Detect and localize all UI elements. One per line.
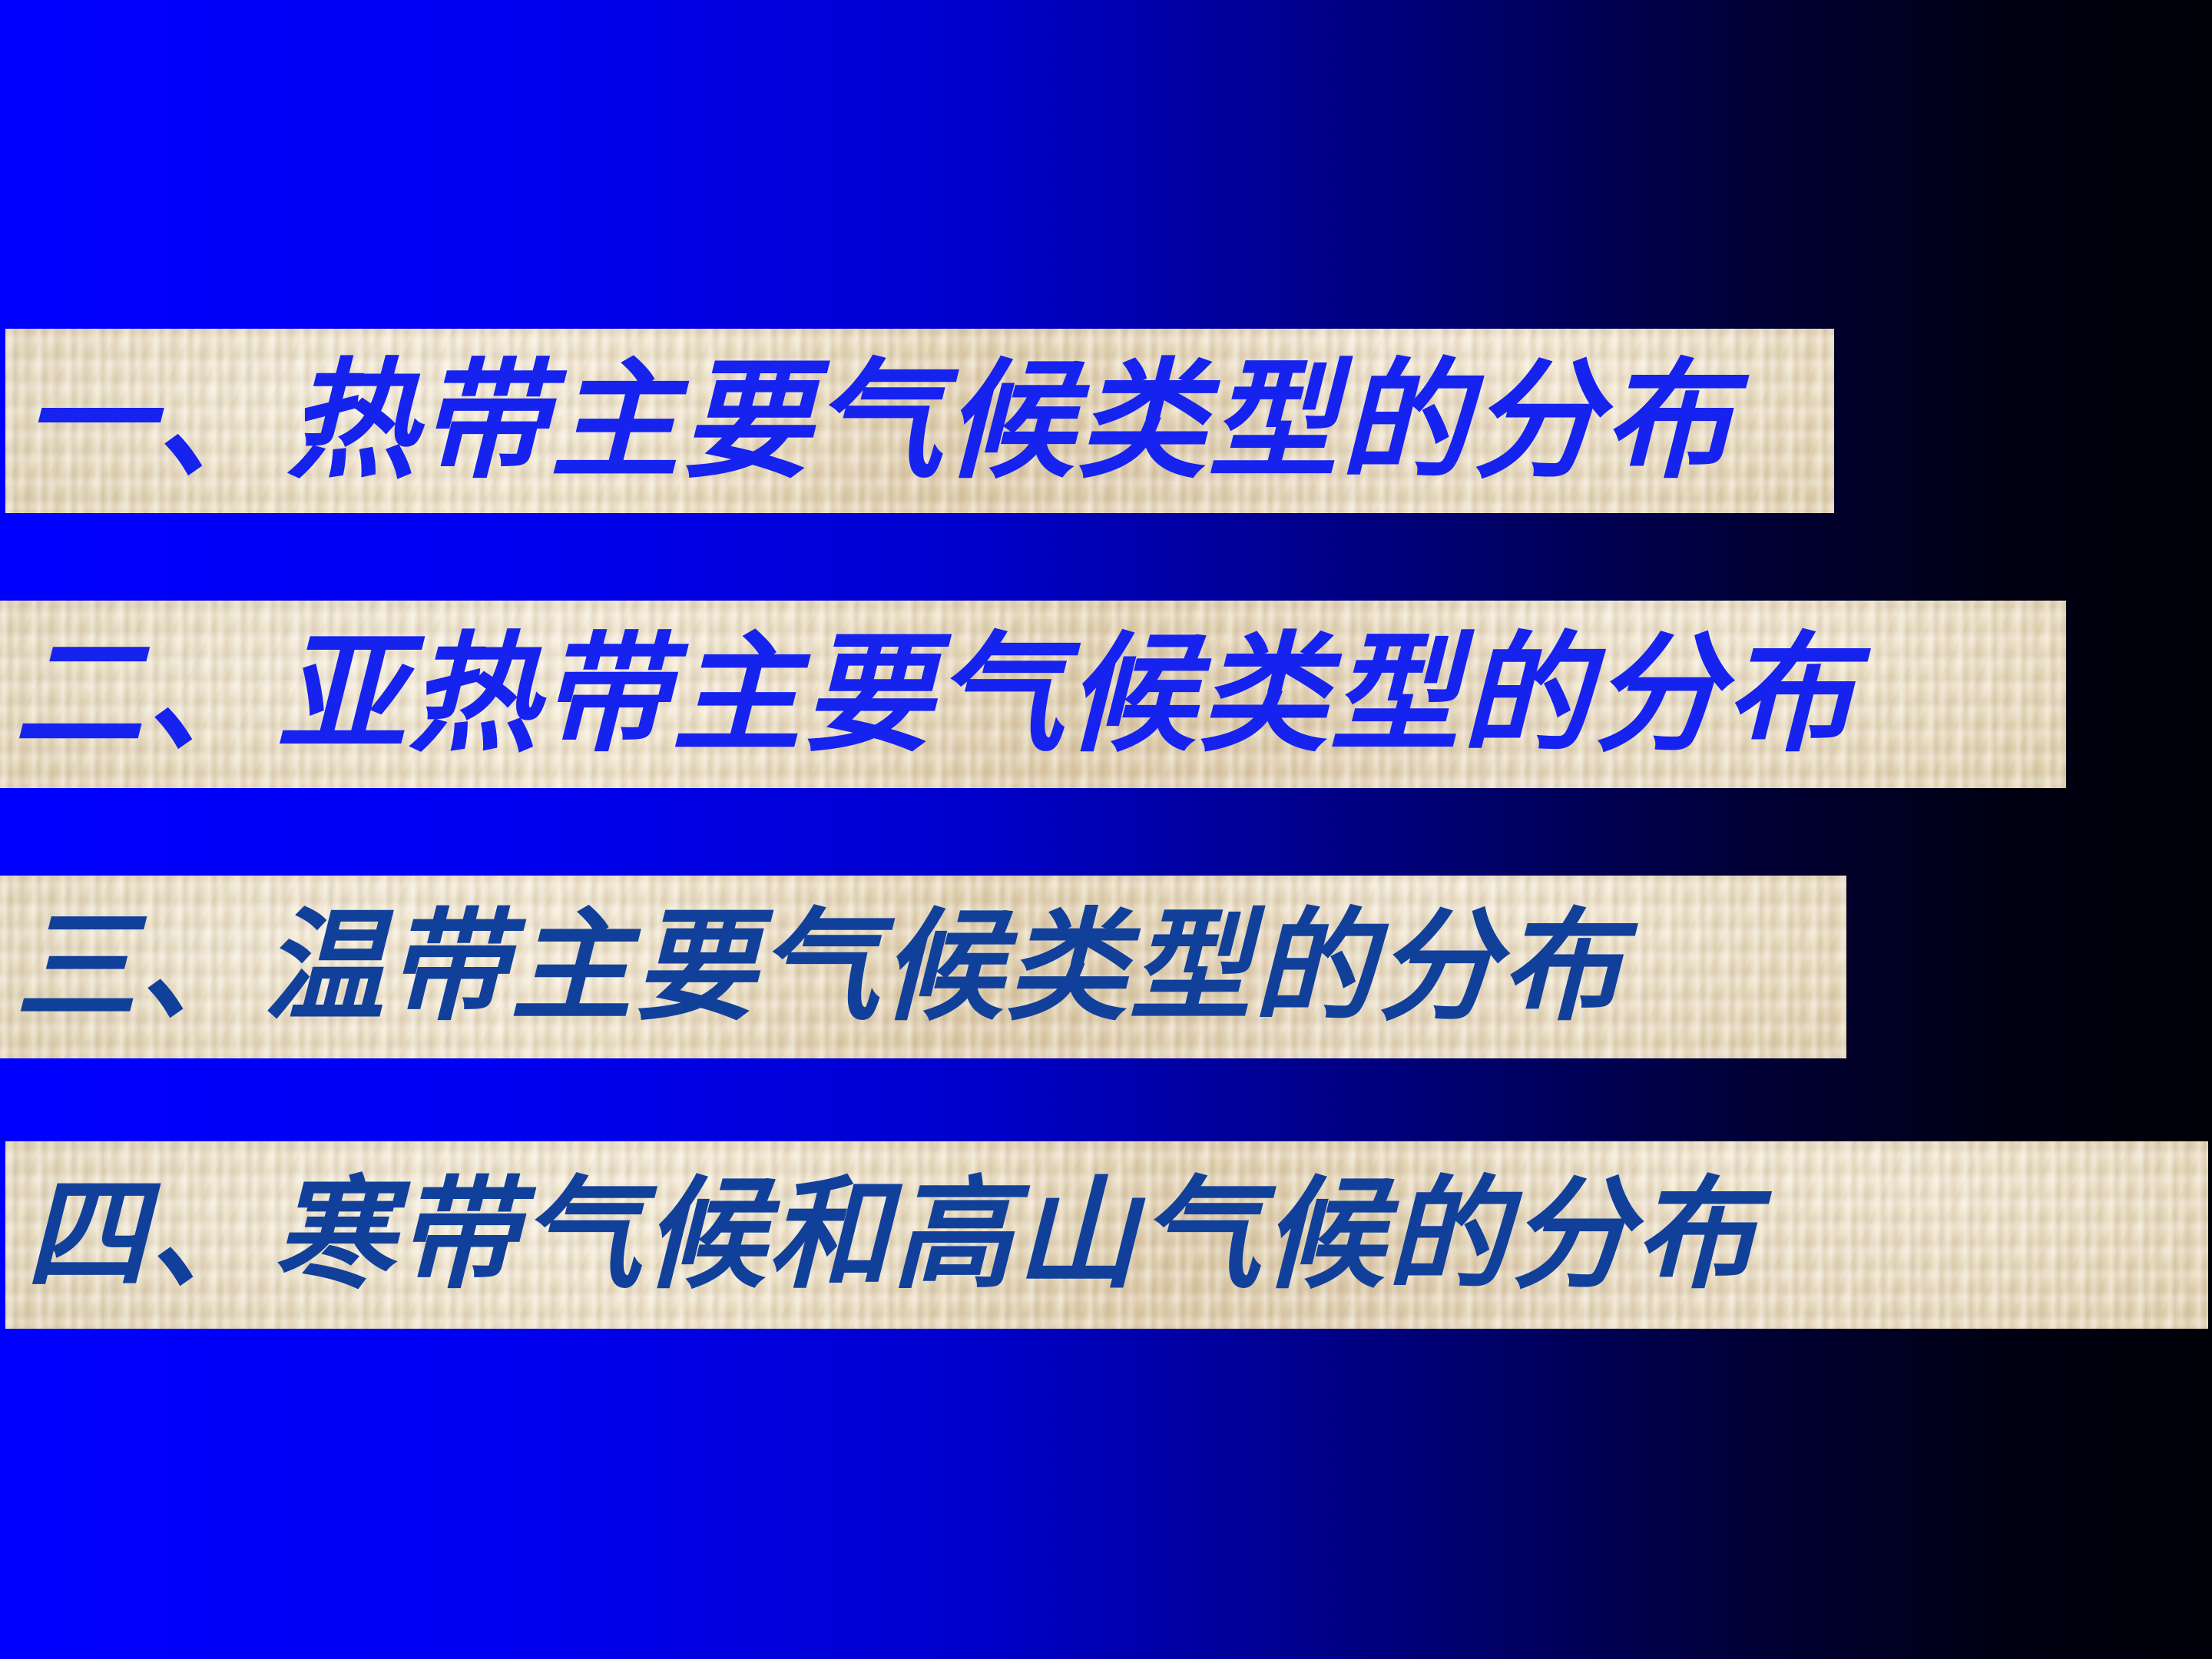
agenda-item-4-label: 四、寒带气候和高山气候的分布 <box>5 1174 1758 1296</box>
agenda-item-1-label: 一、热带主要气候类型的分布 <box>5 356 1735 485</box>
agenda-item-3-label: 三、温带主要气候类型的分布 <box>0 906 1624 1028</box>
agenda-item-3[interactable]: 三、温带主要气候类型的分布 <box>0 876 1846 1058</box>
agenda-item-2-label: 二、亚热带主要气候类型的分布 <box>0 630 1856 759</box>
agenda-item-1[interactable]: 一、热带主要气候类型的分布 <box>5 329 1834 513</box>
agenda-item-4[interactable]: 四、寒带气候和高山气候的分布 <box>5 1141 2208 1329</box>
presentation-slide: 一、热带主要气候类型的分布 二、亚热带主要气候类型的分布 三、温带主要气候类型的… <box>0 0 2212 1659</box>
agenda-item-2[interactable]: 二、亚热带主要气候类型的分布 <box>0 601 2066 788</box>
